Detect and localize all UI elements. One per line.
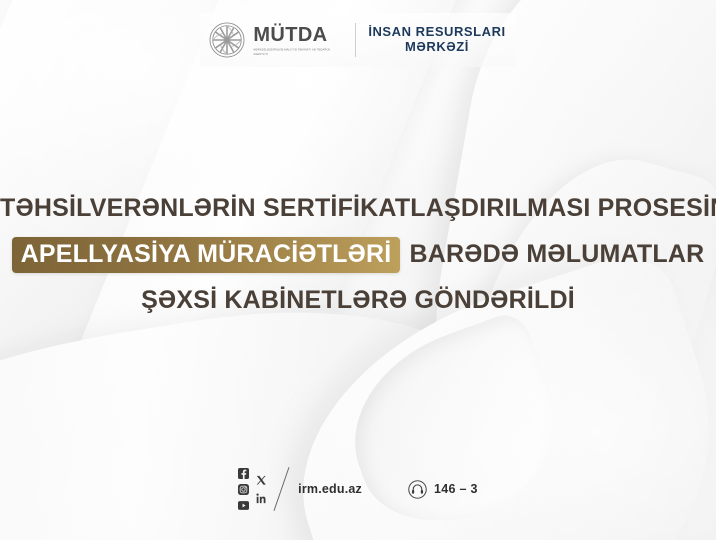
headline-highlight: APELLYASİYA MÜRACİƏTLƏRİ — [12, 237, 401, 273]
social-column-right — [256, 475, 267, 504]
headset-icon — [408, 480, 427, 499]
footer-bar: irm.edu.az 146 – 3 — [0, 466, 716, 512]
x-twitter-icon[interactable] — [256, 475, 267, 486]
mutda-acronym: MÜTDA — [253, 25, 341, 45]
mutda-logo: MÜTDA MƏRKƏZLƏŞDİRİLMİŞ MALİYYƏ TƏMİNATI… — [208, 21, 355, 59]
logo-bar: MÜTDA MƏRKƏZLƏŞDİRİLMİŞ MALİYYƏ TƏMİNATI… — [0, 0, 716, 80]
headline-line-3: ŞƏXSİ KABİNETLƏRƏ GÖNDƏRİLDİ — [0, 288, 716, 313]
poster-canvas: MÜTDA MƏRKƏZLƏŞDİRİLMİŞ MALİYYƏ TƏMİNATI… — [0, 0, 716, 540]
hotline-group: 146 – 3 — [408, 480, 478, 499]
youtube-icon[interactable] — [238, 500, 249, 511]
headline-line-1: TƏHSİLVERƏNLƏRİN SERTİFİKATLAŞDIRILMASI … — [0, 196, 716, 221]
hotline-number: 146 – 3 — [434, 482, 478, 496]
website-label[interactable]: irm.edu.az — [298, 482, 362, 496]
mutda-wordmark: MÜTDA MƏRKƏZLƏŞDİRİLMİŞ MALİYYƏ TƏMİNATI… — [253, 25, 341, 56]
irm-line-2: MƏRKƏZİ — [405, 40, 469, 55]
logo-divider — [355, 23, 356, 57]
social-icons — [238, 468, 267, 511]
irm-wordmark: İNSAN RESURSLARI MƏRKƏZİ — [368, 25, 505, 54]
instagram-icon[interactable] — [238, 484, 249, 495]
mutda-subtitle: MƏRKƏZLƏŞDİRİLMİŞ MALİYYƏ TƏMİNATI VƏ TƏ… — [253, 48, 341, 57]
linkedin-icon[interactable] — [256, 493, 267, 504]
headline-line-2-rest: BARƏDƏ MƏLUMATLAR — [402, 240, 704, 268]
footer-divider-slash — [274, 467, 290, 511]
facebook-icon[interactable] — [238, 468, 249, 479]
irm-line-1: İNSAN RESURSLARI — [368, 25, 505, 40]
headline-line-2: APELLYASİYA MÜRACİƏTLƏRİ BARƏDƏ MƏLUMATL… — [0, 237, 716, 273]
headline-block: TƏHSİLVERƏNLƏRİN SERTİFİKATLAŞDIRILMASI … — [0, 196, 716, 313]
logo-plate: MÜTDA MƏRKƏZLƏŞDİRİLMİŞ MALİYYƏ TƏMİNATI… — [200, 13, 515, 67]
mandala-emblem-icon — [208, 21, 246, 59]
social-column-left — [238, 468, 249, 511]
